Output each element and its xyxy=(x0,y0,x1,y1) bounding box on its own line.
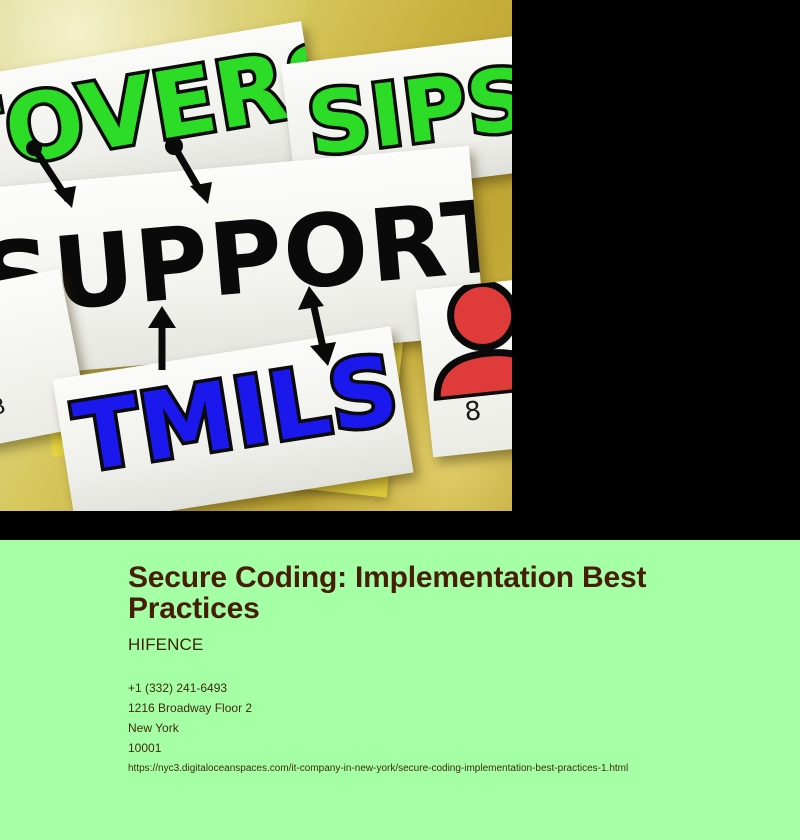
arrow-down-center-icon xyxy=(160,136,230,216)
title-block: Secure Coding: Implementation Best Pract… xyxy=(128,562,688,655)
contact-phone: +1 (332) 241-6493 xyxy=(128,678,748,698)
page-root: TOVERS SIPSID SUPPORTS EATB 8 xyxy=(0,0,800,840)
arrow-down-left-icon xyxy=(20,138,90,218)
sign-text-eight: 8 xyxy=(463,396,484,428)
page-title: Secure Coding: Implementation Best Pract… xyxy=(128,562,688,624)
contact-street: 1216 Broadway Floor 2 xyxy=(128,698,748,718)
hero-image: TOVERS SIPSID SUPPORTS EATB 8 xyxy=(0,0,512,511)
arrow-up-icon xyxy=(138,300,188,378)
site-url-link[interactable]: https://nyc3.digitaloceanspaces.com/it-c… xyxy=(128,762,748,776)
person-icon-red xyxy=(421,275,512,401)
arrow-double-icon xyxy=(290,282,350,372)
contact-city: New York xyxy=(128,718,748,738)
company-name: HIFENCE xyxy=(128,635,688,655)
sign-text-eatb: EATB xyxy=(0,394,9,430)
contact-block: +1 (332) 241-6493 1216 Broadway Floor 2 … xyxy=(128,678,748,776)
content-panel: Secure Coding: Implementation Best Pract… xyxy=(0,540,800,840)
sign-card-person: 8 xyxy=(416,275,512,458)
contact-postal-code: 10001 xyxy=(128,738,748,758)
